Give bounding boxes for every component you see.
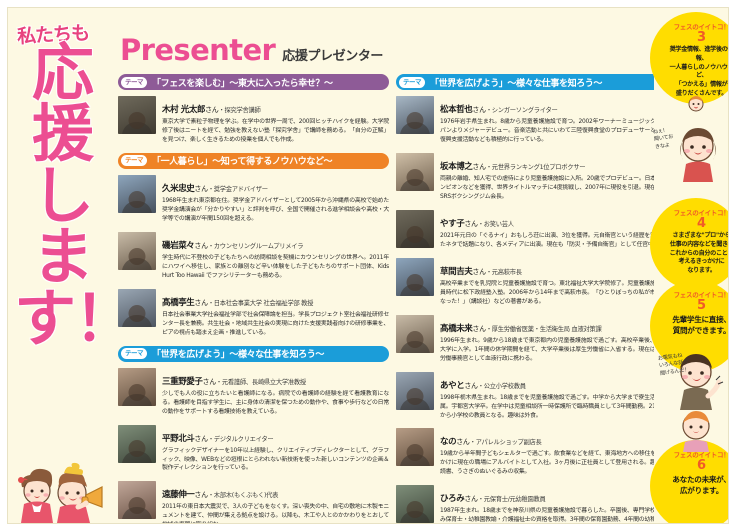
presenter-text: 木村 光太郎さん・探究学舎講師東京大学で素粒子物理を学ぶ。在学中の世界一周で、2… bbox=[162, 96, 389, 145]
presenter-nameline: 遠藤伸一さん・木部木(もくぶもく)代表 bbox=[162, 482, 389, 501]
presenter-entry: 遠藤伸一さん・木部木(もくぶもく)代表2011年の東日本大震災で、3人の子どもを… bbox=[118, 481, 389, 524]
presenter-description: 19歳から半年間子どもシェルターで過ごす。飲食業などを経て、東海地方への移住をき… bbox=[440, 450, 667, 477]
presenter-description: 日本社会事業大学社会福祉学部で社会保障論を担当。学長プロジェクト室社会福祉研修セ… bbox=[162, 311, 389, 338]
presenter-text: 三重野愛子さん・元看護師、長崎県立大学准教授少しでも人の役に立ちたいと看護師にな… bbox=[162, 368, 389, 417]
section-title: 「一人暮らし」～知って得するノウハウなど～ bbox=[152, 154, 332, 167]
presenter-photo bbox=[118, 481, 156, 519]
page-title: Presenter 応援プレゼンター bbox=[120, 33, 383, 67]
presenter-photo bbox=[396, 96, 434, 134]
section-header-sec-2: テーマ「一人暮らし」～知って得するノウハウなど～ bbox=[118, 153, 389, 169]
presenter-name-suffix: さん bbox=[472, 325, 485, 333]
presenter-description: 東京大学で素粒子物理を学ぶ。在学中の世界一周で、200回ヒッチハイクを経験。大学… bbox=[162, 118, 389, 145]
presenter-description: 1998年栃木県生まれ。18歳までを児童養護施設で過ごす。中学から大学まで寮生活… bbox=[440, 394, 667, 421]
presenter-nameline: あやとさん・公立小学校教員 bbox=[440, 373, 667, 392]
flyer-sheet: 私たちも 応援します！ bbox=[7, 7, 729, 524]
callout-body: さまざまな"プロ"から 仕事の内容などを聞き、 これからの自分のことを 考えるき… bbox=[666, 232, 729, 275]
presenter-photo bbox=[396, 372, 434, 410]
presenter-photo bbox=[396, 210, 434, 248]
section-title: 「世界を広げよう」～様々な仕事を知ろう～ bbox=[430, 76, 602, 89]
presenter-text: 平野北斗さん・デジタルクリエイターグラフィックデザイナーを10年以上経験し、クリ… bbox=[162, 425, 389, 474]
presenter-description: 1968年生まれ東京都在住。奨学金アドバイザーとして2005年から沖縄県の高校で… bbox=[162, 197, 389, 224]
presenter-entry: 草間吉夫さん・元高萩市長高校卒業までを乳児院と児童養護施設で育つ。東北福祉大学大… bbox=[396, 258, 667, 307]
presenter-name-suffix: さん bbox=[203, 378, 216, 386]
right-column: テーマ「世界を広げよう」～様々な仕事を知ろう～松本哲也さん・シンガーソングライタ… bbox=[396, 74, 667, 524]
presenter-entry: あやとさん・公立小学校教員1998年栃木県生まれ。18歳までを児童養護施設で過ご… bbox=[396, 372, 667, 421]
presenter-entry: 平野北斗さん・デジタルクリエイターグラフィックデザイナーを10年以上経験し、クリ… bbox=[118, 425, 389, 474]
presenter-name: 三重野愛子 bbox=[162, 377, 203, 387]
presenter-role: ・奨学金アドバイザー bbox=[208, 186, 268, 193]
presenter-name-suffix: さん bbox=[464, 382, 477, 390]
mascot-child-illustration bbox=[674, 404, 718, 452]
title-english: Presenter bbox=[120, 33, 275, 67]
presenter-role: ・木部木(もくぶもく)代表 bbox=[208, 492, 278, 499]
presenter-name: 久米忠史 bbox=[162, 184, 194, 194]
presenter-name: 髙橋未来 bbox=[440, 324, 472, 334]
mascot-face-icon bbox=[686, 521, 706, 524]
presenter-text: 髙橋未来さん・厚生労働省医薬・生活衛生局 血液対策課1996年生まれ。9歳から1… bbox=[440, 315, 667, 364]
presenter-name: 磯岩菜々 bbox=[162, 241, 194, 251]
presenter-nameline: 平野北斗さん・デジタルクリエイター bbox=[162, 426, 389, 445]
presenter-name-suffix: さん bbox=[194, 242, 207, 250]
section-theme-badge: テーマ bbox=[399, 77, 425, 88]
callout-body: 奨学金情報、進学後の情報、 一人暮らしのノウハウなど、 「つかえる」情報が 盛り… bbox=[666, 46, 729, 98]
presenter-photo bbox=[396, 485, 434, 523]
callout-body: あなたの未来が、 広がります。 bbox=[666, 474, 729, 496]
presenter-name-suffix: さん bbox=[472, 268, 485, 276]
presenter-text: 遠藤伸一さん・木部木(もくぶもく)代表2011年の東日本大震災で、3人の子どもを… bbox=[162, 481, 389, 524]
presenter-nameline: 髙橋未来さん・厚生労働省医薬・生活衛生局 血液対策課 bbox=[440, 316, 667, 335]
presenter-name-suffix: さん bbox=[456, 438, 469, 446]
section-header-sec-4: テーマ「世界を広げよう」～様々な仕事を知ろう～ bbox=[396, 74, 667, 90]
presenter-description: 両親の離婚、知人宅での虐待により児童養護施設に入所。20歳でプロデビュー。日本チ… bbox=[440, 175, 667, 202]
presenter-entry: 坂本博之さん・元世界ランキング1位プロボクサー両親の離婚、知人宅での虐待により児… bbox=[396, 153, 667, 202]
banner-big-text: 応援します！ bbox=[14, 42, 110, 349]
callout-body: 先輩学生に直接、 質問ができます。 bbox=[666, 314, 729, 336]
section-header-sec-1: テーマ「フェスを楽しむ」～東大に入ったら幸せ？～ bbox=[118, 74, 389, 90]
presenter-name-suffix: さん bbox=[194, 435, 207, 443]
presenter-text: 草間吉夫さん・元高萩市長高校卒業までを乳児院と児童養護施設で育つ。東北福祉大学大… bbox=[440, 258, 667, 307]
cheering-kids-illustration bbox=[12, 457, 110, 523]
presenter-entry: ひろみさん・元保育士/元幼稚園教員1987年生まれ。18歳までを神奈川県の児童養… bbox=[396, 485, 667, 524]
presenter-text: 久米忠史さん・奨学金アドバイザー1968年生まれ東京都在住。奨学金アドバイザーと… bbox=[162, 175, 389, 224]
presenter-text: 髙橋亭生さん・日本社会事業大学 社会福祉学部 教授日本社会事業大学社会福祉学部で… bbox=[162, 289, 389, 338]
presenter-role: ・シンガーソングライター bbox=[486, 107, 558, 114]
presenter-photo bbox=[118, 425, 156, 463]
presenter-description: 高校卒業までを乳児院と児童養護施設で育つ。東北福祉大学大学院修了。児童養護施設職… bbox=[440, 280, 667, 307]
presenter-nameline: やす子さん・お笑い芸人 bbox=[440, 211, 667, 230]
presenter-text: 坂本博之さん・元世界ランキング1位プロボクサー両親の離婚、知人宅での虐待により児… bbox=[440, 153, 667, 202]
presenter-description: 学生時代に不登校の子どもたちへの訪問相談を契機にカウンセリングの世界へ。2011… bbox=[162, 254, 389, 281]
presenter-name: 木村 光太郎 bbox=[162, 105, 205, 115]
presenter-name-suffix: さん bbox=[472, 163, 485, 171]
presenter-text: ひろみさん・元保育士/元幼稚園教員1987年生まれ。18歳までを神奈川県の児童養… bbox=[440, 485, 667, 524]
presenter-name: 草間吉夫 bbox=[440, 267, 472, 277]
section-theme-badge: テーマ bbox=[121, 155, 147, 166]
section-title: 「世界を広げよう」～様々な仕事を知ろう～ bbox=[152, 347, 324, 360]
presenter-text: なのさん・アパレルショップ副店長19歳から半年間子どもシェルターで過ごす。飲食業… bbox=[440, 428, 667, 477]
right-rail: フェスのイイトコ！ 3 奨学金情報、進学後の情報、 一人暮らしのノウハウなど、 … bbox=[654, 8, 728, 524]
presenter-nameline: 草間吉夫さん・元高萩市長 bbox=[440, 259, 667, 278]
presenter-photo bbox=[118, 96, 156, 134]
section-theme-badge: テーマ bbox=[121, 77, 147, 88]
presenter-entry: 磯岩菜々さん・カウンセリングルームプリメイラ学生時代に不登校の子どもたちへの訪問… bbox=[118, 232, 389, 281]
presenter-name-suffix: さん bbox=[194, 491, 207, 499]
presenter-entry: 久米忠史さん・奨学金アドバイザー1968年生まれ東京都在住。奨学金アドバイザーと… bbox=[118, 175, 389, 224]
presenter-nameline: 三重野愛子さん・元看護師、長崎県立大学准教授 bbox=[162, 369, 389, 388]
presenter-role: ・公立小学校教員 bbox=[478, 383, 526, 390]
callout-number: 4 bbox=[666, 217, 729, 231]
section-theme-badge: テーマ bbox=[121, 348, 147, 359]
presenter-nameline: 坂本博之さん・元世界ランキング1位プロボクサー bbox=[440, 154, 667, 173]
speech-bubble-a: ねぇ！ 聞いておきなよ bbox=[653, 127, 678, 152]
presenter-name: あやと bbox=[440, 381, 464, 391]
presenter-role: ・元高萩市長 bbox=[486, 269, 522, 276]
callout-number: 6 bbox=[666, 459, 729, 473]
presenter-text: あやとさん・公立小学校教員1998年栃木県生まれ。18歳までを児童養護施設で過ご… bbox=[440, 372, 667, 421]
presenter-photo bbox=[396, 428, 434, 466]
presenter-name-suffix: さん bbox=[205, 106, 218, 114]
flyer-page: 私たちも 応援します！ bbox=[0, 0, 736, 531]
left-banner: 私たちも 応援します！ bbox=[8, 8, 111, 524]
presenter-name: 坂本博之 bbox=[440, 162, 472, 172]
title-japanese: 応援プレゼンター bbox=[282, 45, 383, 64]
presenter-description: 1987年生まれ。18歳までを神奈川県の児童養護施設で暮らした。卒園後、専門学校… bbox=[440, 507, 667, 524]
callout-number: 5 bbox=[666, 299, 729, 313]
presenter-role: ・厚生労働省医薬・生活衛生局 血液対策課 bbox=[486, 326, 602, 333]
presenter-nameline: 松本哲也さん・シンガーソングライター bbox=[440, 97, 667, 116]
presenter-entry: 髙橋未来さん・厚生労働省医薬・生活衛生局 血液対策課1996年生まれ。9歳から1… bbox=[396, 315, 667, 364]
presenter-name: 松本哲也 bbox=[440, 105, 472, 115]
presenter-name: なの bbox=[440, 437, 456, 447]
mascot-face-icon bbox=[686, 93, 706, 113]
presenter-nameline: なのさん・アパレルショップ副店長 bbox=[440, 429, 667, 448]
presenter-description: グラフィックデザイナーを10年以上経験し、クリエイティブディレクターとして、グラ… bbox=[162, 447, 389, 474]
presenter-name: 遠藤伸一 bbox=[162, 490, 194, 500]
presenter-text: 松本哲也さん・シンガーソングライター1976年岩手県生まれ。8歳から児童養護施設… bbox=[440, 96, 667, 145]
presenter-entry: 木村 光太郎さん・探究学舎講師東京大学で素粒子物理を学ぶ。在学中の世界一周で、2… bbox=[118, 96, 389, 145]
presenter-role: ・元保育士/元幼稚園教員 bbox=[478, 496, 546, 503]
presenter-role: ・カウンセリングルームプリメイラ bbox=[208, 243, 303, 250]
presenter-description: 1996年生まれ。9歳から18歳まで東京都内の児童養護施設で過ごす。高校卒業後、… bbox=[440, 337, 667, 364]
presenter-text: やす子さん・お笑い芸人2021年元日の「ぐるナイ」おもしろ荘に出演、3位を獲得。… bbox=[440, 210, 667, 250]
presenter-text: 磯岩菜々さん・カウンセリングルームプリメイラ学生時代に不登校の子どもたちへの訪問… bbox=[162, 232, 389, 281]
presenter-photo bbox=[118, 368, 156, 406]
presenter-photo bbox=[118, 289, 156, 327]
presenter-entry: やす子さん・お笑い芸人2021年元日の「ぐるナイ」おもしろ荘に出演、3位を獲得。… bbox=[396, 210, 667, 250]
presenter-description: 少しでも人の役に立ちたいと看護師になる。病院での看護師の経験を経て看護教育になる… bbox=[162, 390, 389, 417]
presenter-photo bbox=[118, 175, 156, 213]
presenter-description: 2011年の東日本大震災で、3人の子どもをなくす。深い喪失の中、自宅の敷地に木製… bbox=[162, 503, 389, 524]
presenter-role: ・元世界ランキング1位プロボクサー bbox=[486, 164, 585, 171]
presenter-photo bbox=[396, 315, 434, 353]
presenter-entry: 髙橋亭生さん・日本社会事業大学 社会福祉学部 教授日本社会事業大学社会福祉学部で… bbox=[118, 289, 389, 338]
presenter-entry: なのさん・アパレルショップ副店長19歳から半年間子どもシェルターで過ごす。飲食業… bbox=[396, 428, 667, 477]
callout-circle-3: フェスのイイトコ！ 3 奨学金情報、進学後の情報、 一人暮らしのノウハウなど、 … bbox=[650, 12, 729, 104]
callout-number: 3 bbox=[666, 31, 729, 45]
presenter-nameline: 久米忠史さん・奨学金アドバイザー bbox=[162, 176, 389, 195]
presenter-name: やす子 bbox=[440, 219, 464, 229]
presenter-nameline: 髙橋亭生さん・日本社会事業大学 社会福祉学部 教授 bbox=[162, 290, 389, 309]
presenter-name-suffix: さん bbox=[464, 220, 477, 228]
presenter-nameline: 木村 光太郎さん・探究学舎講師 bbox=[162, 97, 389, 116]
presenter-photo bbox=[118, 232, 156, 270]
presenter-name-suffix: さん bbox=[194, 185, 207, 193]
presenter-description: 2021年元日の「ぐるナイ」おもしろ荘に出演、3位を獲得。元自衛官という経歴を活… bbox=[440, 232, 667, 250]
presenter-name: 平野北斗 bbox=[162, 434, 194, 444]
speech-bubble-b: お電気もね いろんな話が 聞けるんだ！ bbox=[657, 352, 689, 378]
mascot-girl-illustration bbox=[674, 120, 722, 182]
presenter-role: ・お笑い芸人 bbox=[478, 221, 514, 228]
presenter-photo bbox=[396, 153, 434, 191]
presenter-photo bbox=[396, 258, 434, 296]
presenter-role: ・デジタルクリエイター bbox=[208, 436, 274, 443]
presenter-nameline: ひろみさん・元保育士/元幼稚園教員 bbox=[440, 486, 667, 505]
presenter-entry: 松本哲也さん・シンガーソングライター1976年岩手県生まれ。8歳から児童養護施設… bbox=[396, 96, 667, 145]
section-title: 「フェスを楽しむ」～東大に入ったら幸せ？～ bbox=[152, 76, 333, 89]
presenter-role: ・探究学舎講師 bbox=[218, 107, 260, 114]
presenter-nameline: 磯岩菜々さん・カウンセリングルームプリメイラ bbox=[162, 233, 389, 252]
presenter-role: ・アパレルショップ副店長 bbox=[470, 439, 542, 446]
presenter-description: 1976年岩手県生まれ。8歳から児童養護施設で育つ。2002年ワーナーミュージッ… bbox=[440, 118, 667, 145]
section-header-sec-3: テーマ「世界を広げよう」～様々な仕事を知ろう～ bbox=[118, 346, 389, 362]
presenter-name-suffix: さん bbox=[194, 299, 207, 307]
presenter-name: ひろみ bbox=[440, 494, 464, 504]
presenter-role: ・元看護師、長崎県立大学准教授 bbox=[216, 379, 306, 386]
left-column: テーマ「フェスを楽しむ」～東大に入ったら幸せ？～木村 光太郎さん・探究学舎講師東… bbox=[118, 74, 389, 524]
presenter-role: ・日本社会事業大学 社会福祉学部 教授 bbox=[208, 300, 313, 307]
presenter-name-suffix: さん bbox=[472, 106, 485, 114]
callout-circle-6: フェスのイイトコ！ 6 あなたの未来が、 広がります。 bbox=[650, 440, 729, 524]
presenter-name-suffix: さん bbox=[464, 495, 477, 503]
presenter-entry: 三重野愛子さん・元看護師、長崎県立大学准教授少しでも人の役に立ちたいと看護師にな… bbox=[118, 368, 389, 417]
presenter-name: 髙橋亭生 bbox=[162, 298, 194, 308]
callout-circle-4: フェスのイイトコ！ 4 さまざまな"プロ"から 仕事の内容などを聞き、 これから… bbox=[650, 198, 729, 290]
